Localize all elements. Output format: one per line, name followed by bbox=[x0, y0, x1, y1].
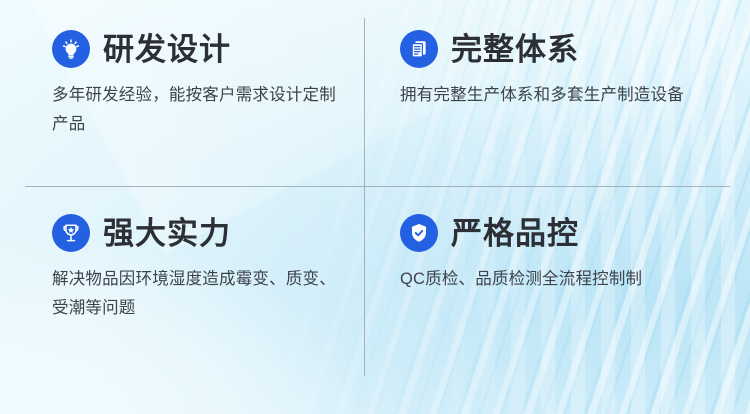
feature-header: 强大实力 bbox=[52, 214, 338, 252]
feature-card-research-design: 研发设计 多年研发经验，能按客户需求设计定制产品 bbox=[0, 0, 364, 186]
feature-description: 解决物品因环境湿度造成霉变、质变、受潮等问题 bbox=[52, 265, 338, 324]
feature-card-strong-capability: 强大实力 解决物品因环境湿度造成霉变、质变、受潮等问题 bbox=[0, 186, 364, 414]
feature-title: 严格品控 bbox=[451, 218, 579, 249]
feature-header: 研发设计 bbox=[52, 30, 338, 68]
feature-grid: 研发设计 多年研发经验，能按客户需求设计定制产品 bbox=[0, 0, 750, 414]
lightbulb-icon bbox=[52, 30, 90, 68]
feature-description: 多年研发经验，能按客户需求设计定制产品 bbox=[52, 81, 338, 140]
trophy-star-icon bbox=[52, 214, 90, 252]
feature-header: 完整体系 bbox=[400, 30, 730, 68]
shield-check-icon bbox=[400, 214, 438, 252]
horizontal-divider bbox=[25, 186, 730, 187]
feature-description: QC质检、品质检测全流程控制制 bbox=[400, 265, 700, 294]
vertical-divider bbox=[364, 18, 365, 376]
documents-icon bbox=[400, 30, 438, 68]
feature-header: 严格品控 bbox=[400, 214, 730, 252]
feature-highlights-banner: 研发设计 多年研发经验，能按客户需求设计定制产品 bbox=[0, 0, 750, 414]
feature-title: 研发设计 bbox=[103, 34, 231, 65]
feature-description: 拥有完整生产体系和多套生产制造设备 bbox=[400, 81, 700, 110]
feature-title: 强大实力 bbox=[103, 218, 231, 249]
feature-card-strict-quality-control: 严格品控 QC质检、品质检测全流程控制制 bbox=[364, 186, 750, 414]
feature-title: 完整体系 bbox=[451, 34, 579, 65]
feature-card-complete-system: 完整体系 拥有完整生产体系和多套生产制造设备 bbox=[364, 0, 750, 186]
